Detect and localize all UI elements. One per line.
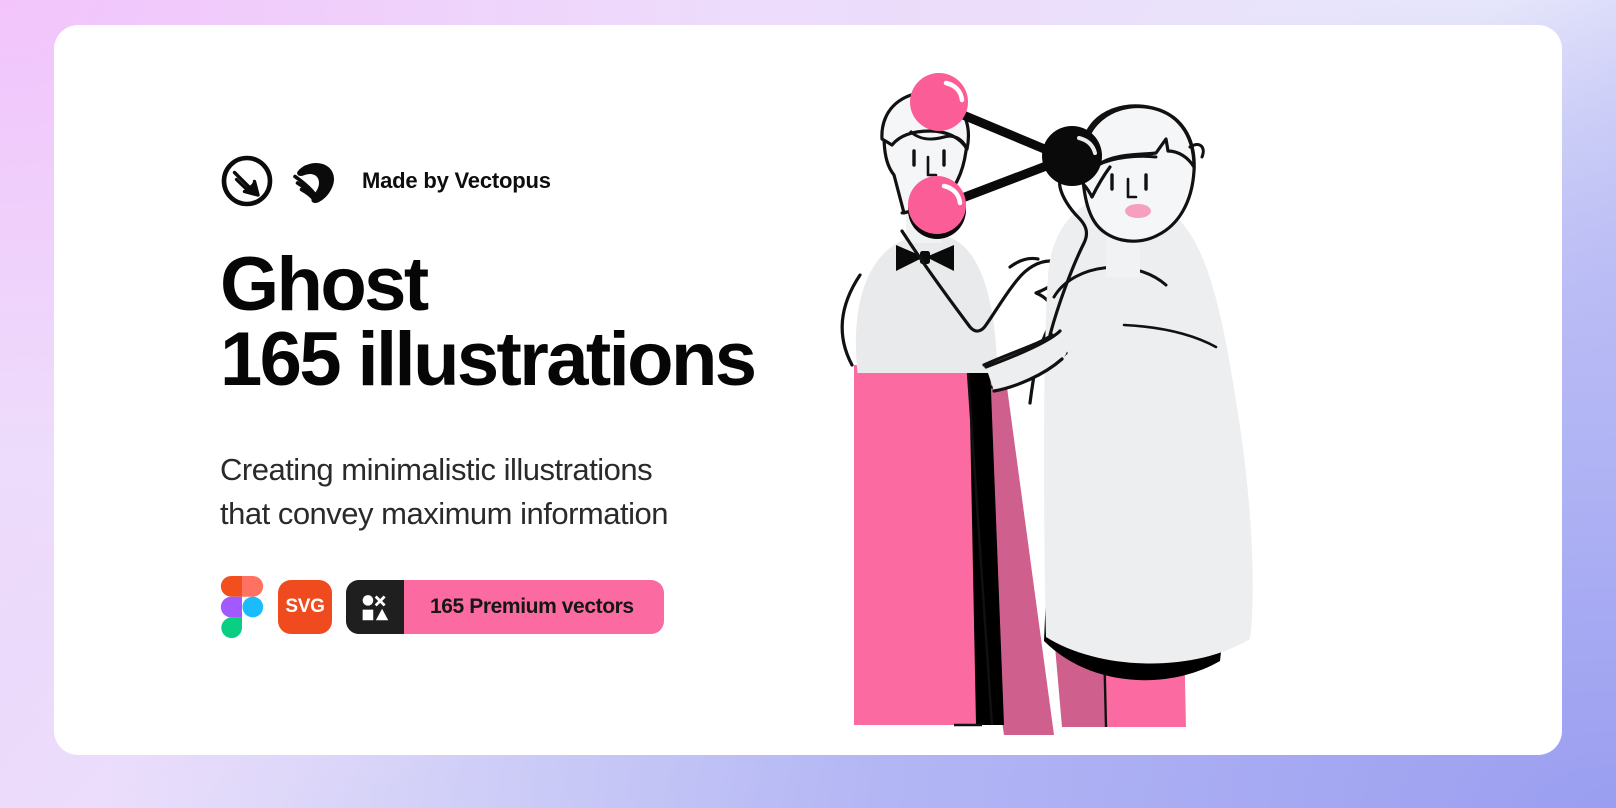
headline-line-1: Ghost	[220, 242, 427, 327]
page-title: Ghost 165 illustrations	[220, 247, 820, 397]
made-by-label: Made by Vectopus	[362, 168, 551, 194]
subtitle-line-2: that convey maximum information	[220, 492, 820, 536]
figma-logo-icon[interactable]	[220, 576, 264, 638]
shapes-icon	[346, 580, 404, 634]
svg-format-badge[interactable]: SVG	[278, 580, 332, 634]
brand-row: Made by Vectopus	[220, 153, 820, 209]
headline-line-2: 165 illustrations	[220, 322, 820, 397]
vectopus-mark-icon	[220, 154, 274, 208]
premium-vectors-badge[interactable]: 165 Premium vectors	[346, 580, 664, 634]
octopus-icon	[286, 154, 340, 208]
content-column: Made by Vectopus Ghost 165 illustrations…	[220, 153, 820, 638]
promo-card: Made by Vectopus Ghost 165 illustrations…	[54, 25, 1562, 755]
subtitle-line-1: Creating minimalistic illustrations	[220, 448, 820, 492]
badge-row: SVG 165 Premium vectors	[220, 576, 820, 638]
svg-badge-label: SVG	[285, 596, 324, 618]
page-subtitle: Creating minimalistic illustrations that…	[220, 448, 820, 536]
premium-vectors-label: 165 Premium vectors	[404, 580, 664, 634]
page-background: Made by Vectopus Ghost 165 illustrations…	[0, 0, 1616, 808]
hero-illustration	[754, 35, 1374, 755]
